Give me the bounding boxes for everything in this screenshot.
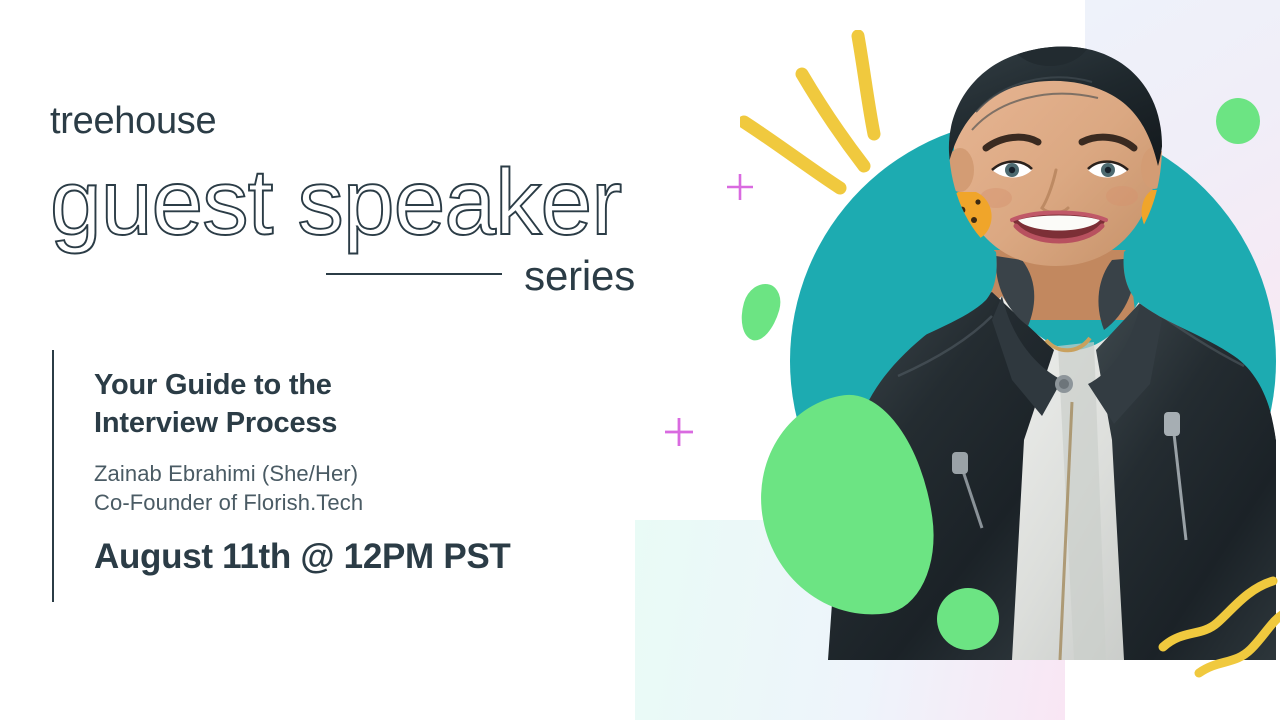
speaker-name: Zainab Ebrahimi (She/Her) [94,459,511,488]
series-divider-rule [326,273,502,275]
talk-title: Your Guide to the Interview Process [94,366,511,443]
series-label: series [524,255,635,297]
series-row: series [50,255,635,297]
headline-block: treehouse guest speaker series [50,102,670,297]
magenta-plus-middle-icon [663,416,695,448]
guest-speaker-outline-title: guest speaker [50,146,650,261]
talk-title-line-1: Your Guide to the [94,369,332,401]
green-circle-top-right [1216,98,1260,144]
talk-title-line-2: Interview Process [94,407,337,439]
event-datetime: August 11th @ 12PM PST [94,537,511,577]
speaker-role: Co-Founder of Florish.Tech [94,488,511,517]
event-details-block: Your Guide to the Interview Process Zain… [52,350,511,602]
green-blob-small [735,279,786,345]
green-circle-bottom [937,588,999,650]
yellow-wave-strokes [1155,575,1280,685]
promo-slide: treehouse guest speaker series Your Guid… [0,0,1280,720]
magenta-plus-top-icon [725,172,755,202]
yellow-spark-strokes [740,30,920,220]
svg-text:guest speaker: guest speaker [50,150,621,254]
brand-name: treehouse [50,102,670,140]
